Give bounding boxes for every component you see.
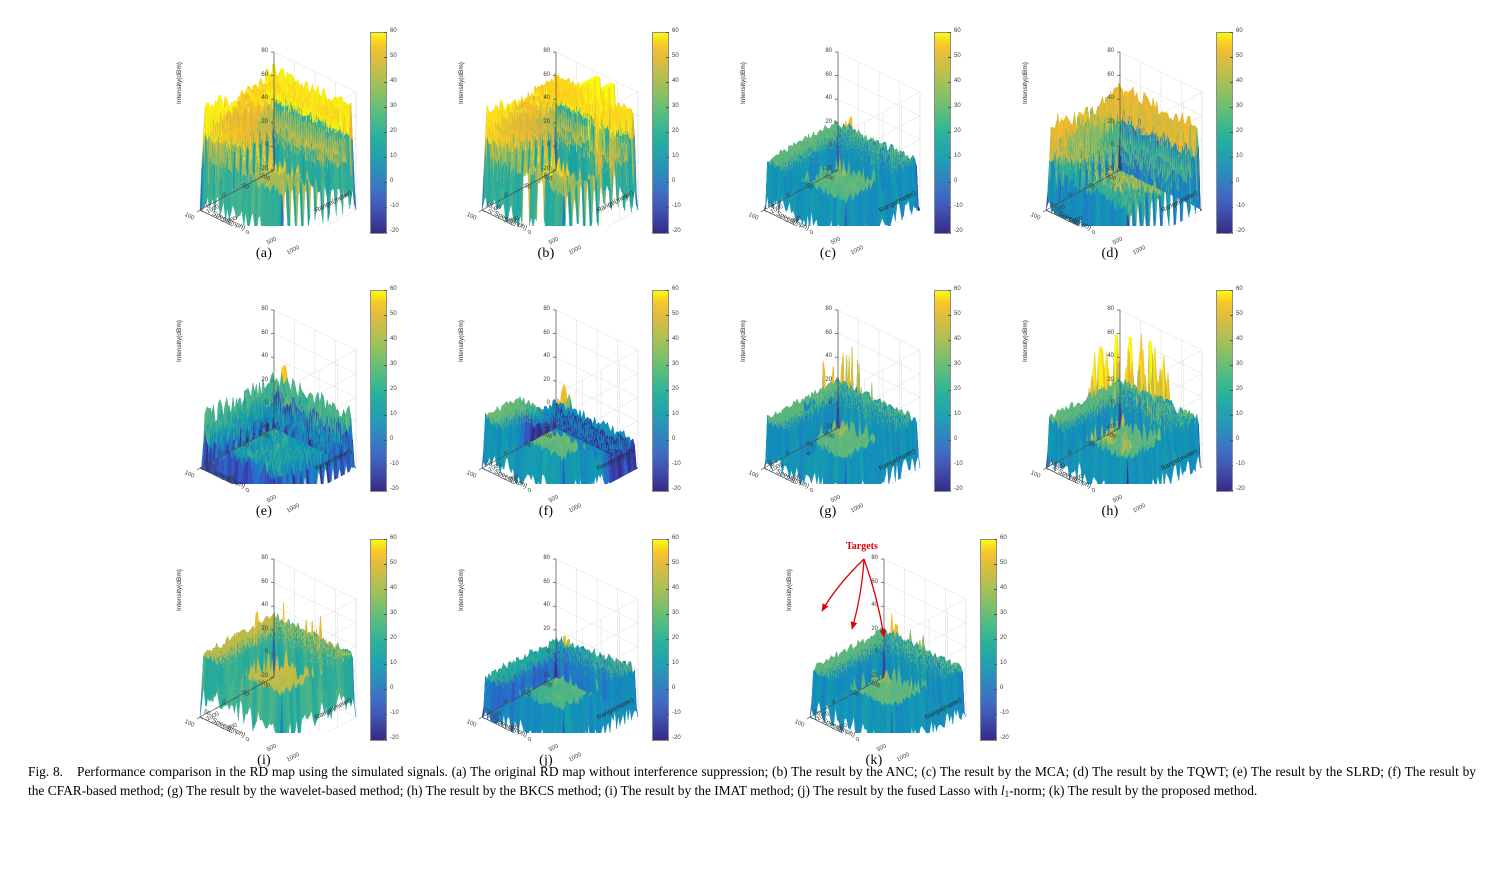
z-axis-label-g: Intensity(dBm) bbox=[740, 320, 747, 362]
z-tick-d-2: 40 bbox=[1092, 95, 1114, 101]
colorbar-notch-d-8 bbox=[1230, 232, 1233, 233]
y-tick-g-3: 500 bbox=[830, 494, 842, 504]
panel-h: 806040200-20-100-50050100-1000-500050010… bbox=[996, 278, 1276, 528]
surface-mesh bbox=[482, 385, 638, 484]
colorbar-tick-b-6: 0 bbox=[672, 178, 675, 184]
z-tick-h-3: 20 bbox=[1092, 377, 1114, 383]
z-tick-d-0: 80 bbox=[1092, 48, 1114, 54]
colorbar-notch-g-1 bbox=[948, 315, 951, 316]
plot-area-c: 806040200-20-100-50050100-1000-500050010… bbox=[714, 20, 942, 245]
colorbar-tick-j-0: 60 bbox=[672, 535, 679, 541]
y-tick-j-3: 500 bbox=[548, 743, 560, 753]
colorbar-tick-b-5: 10 bbox=[672, 153, 679, 159]
colorbar-notch-g-7 bbox=[948, 465, 951, 466]
colorbar-notch-h-0 bbox=[1230, 290, 1233, 291]
colorbar-tick-i-2: 40 bbox=[390, 585, 397, 591]
z-tick-f-3: 20 bbox=[528, 377, 550, 383]
z-tick-e-2: 40 bbox=[246, 353, 268, 359]
panel-j: 806040200-20-100-50050100-1000-500050010… bbox=[432, 527, 712, 777]
colorbar-tick-a-3: 30 bbox=[390, 103, 397, 109]
z-tick-d-4: 0 bbox=[1092, 142, 1114, 148]
colorbar-tick-a-4: 20 bbox=[390, 128, 397, 134]
figure-number: Fig. 8. bbox=[28, 764, 63, 779]
panel-c: 806040200-20-100-50050100-1000-500050010… bbox=[714, 20, 994, 270]
y-tick-d-2: 0 bbox=[1091, 229, 1097, 236]
colorbar-j: 6050403020100-10-20 bbox=[652, 535, 698, 747]
axes-3d-g: 806040200-20-100-50050100-1000-500050010… bbox=[742, 288, 938, 484]
z-tick-d-5: -20 bbox=[1092, 166, 1114, 172]
colorbar-tick-f-6: 0 bbox=[672, 436, 675, 442]
z-tick-e-5: -20 bbox=[246, 424, 268, 430]
axes-3d-i: 806040200-20-100-50050100-1000-500050010… bbox=[178, 537, 374, 733]
colorbar-notch-j-7 bbox=[666, 714, 669, 715]
colorbar-notch-c-7 bbox=[948, 207, 951, 208]
z-tick-e-3: 20 bbox=[246, 377, 268, 383]
colorbar-notch-d-3 bbox=[1230, 107, 1233, 108]
colorbar-notch-k-8 bbox=[994, 739, 997, 740]
colorbar-notch-e-4 bbox=[384, 390, 387, 391]
y-tick-i-2: 0 bbox=[245, 736, 251, 743]
colorbar-notch-f-3 bbox=[666, 365, 669, 366]
colorbar-tick-f-7: -10 bbox=[672, 461, 681, 467]
z-tick-a-2: 40 bbox=[246, 95, 268, 101]
colorbar-ticks-i: 6050403020100-10-20 bbox=[387, 535, 415, 743]
panel-letter-a: (a) bbox=[150, 246, 378, 262]
z-tick-i-5: -20 bbox=[246, 673, 268, 679]
colorbar-tick-g-0: 60 bbox=[954, 286, 961, 292]
colorbar-notch-i-5 bbox=[384, 664, 387, 665]
colorbar-notch-c-8 bbox=[948, 232, 951, 233]
plot-area-k: 806040200-20-100-50050100-1000-500050010… bbox=[760, 527, 988, 752]
colorbar-notch-g-3 bbox=[948, 365, 951, 366]
colorbar-notch-d-2 bbox=[1230, 82, 1233, 83]
colorbar-tick-k-8: -20 bbox=[1000, 735, 1009, 741]
colorbar-tick-c-2: 40 bbox=[954, 78, 961, 84]
colorbar-notch-h-3 bbox=[1230, 365, 1233, 366]
colorbar-notch-a-3 bbox=[384, 107, 387, 108]
z-tick-d-1: 60 bbox=[1092, 72, 1114, 78]
y-tick-c-2: 0 bbox=[809, 229, 815, 236]
colorbar-tick-g-1: 50 bbox=[954, 311, 961, 317]
z-tick-f-5: -20 bbox=[528, 424, 550, 430]
colorbar-tick-i-5: 10 bbox=[390, 660, 397, 666]
colorbar-notch-d-7 bbox=[1230, 207, 1233, 208]
z-tick-i-2: 40 bbox=[246, 602, 268, 608]
colorbar-notch-a-4 bbox=[384, 132, 387, 133]
colorbar-notch-e-8 bbox=[384, 490, 387, 491]
colorbar-tick-b-3: 30 bbox=[672, 103, 679, 109]
z-tick-h-4: 0 bbox=[1092, 400, 1114, 406]
colorbar-e: 6050403020100-10-20 bbox=[370, 286, 416, 498]
panel-letter-f: (f) bbox=[432, 504, 660, 520]
panel-grid: 806040200-20-100-50050100-1000-500050010… bbox=[0, 0, 1502, 745]
colorbar-notch-f-2 bbox=[666, 340, 669, 341]
colorbar-notch-i-3 bbox=[384, 614, 387, 615]
y-tick-j-2: 0 bbox=[527, 736, 533, 743]
colorbar-tick-j-7: -10 bbox=[672, 710, 681, 716]
panel-letter-b: (b) bbox=[432, 246, 660, 262]
panel-letter-c: (c) bbox=[714, 246, 942, 262]
colorbar-notch-a-1 bbox=[384, 57, 387, 58]
colorbar-d: 6050403020100-10-20 bbox=[1216, 28, 1262, 240]
colorbar-tick-c-0: 60 bbox=[954, 28, 961, 34]
colorbar-tick-k-1: 50 bbox=[1000, 560, 1007, 566]
z-tick-e-4: 0 bbox=[246, 400, 268, 406]
colorbar-g: 6050403020100-10-20 bbox=[934, 286, 980, 498]
colorbar-notch-f-5 bbox=[666, 415, 669, 416]
colorbar-tick-j-4: 20 bbox=[672, 635, 679, 641]
colorbar-gradient-e bbox=[370, 290, 387, 492]
colorbar-notch-e-5 bbox=[384, 415, 387, 416]
colorbar-tick-d-4: 20 bbox=[1236, 128, 1243, 134]
plot-area-a: 806040200-20-100-50050100-1000-500050010… bbox=[150, 20, 378, 245]
colorbar-tick-i-4: 20 bbox=[390, 635, 397, 641]
panel-g: 806040200-20-100-50050100-1000-500050010… bbox=[714, 278, 994, 528]
z-tick-c-4: 0 bbox=[810, 142, 832, 148]
axes-3d-f: 806040200-20-100-50050100-1000-500050010… bbox=[460, 288, 656, 484]
z-tick-g-1: 60 bbox=[810, 330, 832, 336]
z-tick-i-0: 80 bbox=[246, 555, 268, 561]
colorbar-tick-e-8: -20 bbox=[390, 486, 399, 492]
colorbar-notch-j-0 bbox=[666, 539, 669, 540]
colorbar-tick-e-6: 0 bbox=[390, 436, 393, 442]
surface-mesh bbox=[200, 365, 356, 484]
colorbar-notch-a-2 bbox=[384, 82, 387, 83]
colorbar-tick-j-3: 30 bbox=[672, 610, 679, 616]
axes-3d-e: 806040200-20-100-50050100-1000-500050010… bbox=[178, 288, 374, 484]
z-tick-j-3: 20 bbox=[528, 626, 550, 632]
colorbar-notch-k-2 bbox=[994, 589, 997, 590]
colorbar-notch-f-1 bbox=[666, 315, 669, 316]
colorbar-tick-e-0: 60 bbox=[390, 286, 397, 292]
colorbar-notch-h-8 bbox=[1230, 490, 1233, 491]
colorbar-notch-e-0 bbox=[384, 290, 387, 291]
z-axis-label-b: Intensity(dBm) bbox=[458, 62, 465, 104]
colorbar-notch-c-0 bbox=[948, 32, 951, 33]
colorbar-notch-g-8 bbox=[948, 490, 951, 491]
y-tick-f-2: 0 bbox=[527, 487, 533, 494]
colorbar-notch-c-4 bbox=[948, 132, 951, 133]
z-tick-a-3: 20 bbox=[246, 119, 268, 125]
colorbar-tick-a-2: 40 bbox=[390, 78, 397, 84]
colorbar-notch-g-2 bbox=[948, 340, 951, 341]
colorbar-h: 6050403020100-10-20 bbox=[1216, 286, 1262, 498]
colorbar-tick-e-2: 40 bbox=[390, 336, 397, 342]
colorbar-tick-a-6: 0 bbox=[390, 178, 393, 184]
z-axis-label-f: Intensity(dBm) bbox=[458, 320, 465, 362]
z-tick-i-3: 20 bbox=[246, 626, 268, 632]
colorbar-tick-d-6: 0 bbox=[1236, 178, 1239, 184]
axes-3d-j: 806040200-20-100-50050100-1000-500050010… bbox=[460, 537, 656, 733]
colorbar-gradient-c bbox=[934, 32, 951, 234]
panel-e: 806040200-20-100-50050100-1000-500050010… bbox=[150, 278, 430, 528]
plot-area-h: 806040200-20-100-50050100-1000-500050010… bbox=[996, 278, 1224, 503]
colorbar-notch-e-6 bbox=[384, 440, 387, 441]
colorbar-tick-j-2: 40 bbox=[672, 585, 679, 591]
z-tick-h-1: 60 bbox=[1092, 330, 1114, 336]
colorbar-notch-c-2 bbox=[948, 82, 951, 83]
colorbar-tick-j-5: 10 bbox=[672, 660, 679, 666]
colorbar-tick-g-2: 40 bbox=[954, 336, 961, 342]
colorbar-notch-f-0 bbox=[666, 290, 669, 291]
z-tick-g-3: 20 bbox=[810, 377, 832, 383]
colorbar-notch-b-6 bbox=[666, 182, 669, 183]
colorbar-notch-i-1 bbox=[384, 564, 387, 565]
z-tick-g-4: 0 bbox=[810, 400, 832, 406]
colorbar-notch-j-8 bbox=[666, 739, 669, 740]
z-tick-e-0: 80 bbox=[246, 306, 268, 312]
panel-letter-h: (h) bbox=[996, 504, 1224, 520]
colorbar-tick-j-8: -20 bbox=[672, 735, 681, 741]
colorbar-ticks-j: 6050403020100-10-20 bbox=[669, 535, 697, 743]
colorbar-tick-f-5: 10 bbox=[672, 411, 679, 417]
colorbar-tick-f-2: 40 bbox=[672, 336, 679, 342]
panel-f: 806040200-20-100-50050100-1000-500050010… bbox=[432, 278, 712, 528]
z-tick-a-5: -20 bbox=[246, 166, 268, 172]
plot-area-f: 806040200-20-100-50050100-1000-500050010… bbox=[432, 278, 660, 503]
colorbar-notch-d-4 bbox=[1230, 132, 1233, 133]
colorbar-ticks-b: 6050403020100-10-20 bbox=[669, 28, 697, 236]
colorbar-notch-c-3 bbox=[948, 107, 951, 108]
colorbar-notch-e-1 bbox=[384, 315, 387, 316]
colorbar-tick-h-7: -10 bbox=[1236, 461, 1245, 467]
z-tick-j-4: 0 bbox=[528, 649, 550, 655]
plot-area-g: 806040200-20-100-50050100-1000-500050010… bbox=[714, 278, 942, 503]
panel-letter-g: (g) bbox=[714, 504, 942, 520]
colorbar-tick-k-4: 20 bbox=[1000, 635, 1007, 641]
colorbar-notch-a-8 bbox=[384, 232, 387, 233]
colorbar-notch-g-4 bbox=[948, 390, 951, 391]
y-tick-e-3: 500 bbox=[266, 494, 278, 504]
colorbar-tick-c-6: 0 bbox=[954, 178, 957, 184]
colorbar-gradient-k bbox=[980, 539, 997, 741]
colorbar-tick-a-1: 50 bbox=[390, 53, 397, 59]
colorbar-tick-i-0: 60 bbox=[390, 535, 397, 541]
colorbar-notch-e-3 bbox=[384, 365, 387, 366]
plot-area-i: 806040200-20-100-50050100-1000-500050010… bbox=[150, 527, 378, 752]
z-axis-label-i: Intensity(dBm) bbox=[176, 569, 183, 611]
colorbar-ticks-a: 6050403020100-10-20 bbox=[387, 28, 415, 236]
colorbar-tick-c-8: -20 bbox=[954, 228, 963, 234]
figure-caption: Fig. 8.Performance comparison in the RD … bbox=[28, 762, 1476, 804]
colorbar-notch-g-5 bbox=[948, 415, 951, 416]
colorbar-notch-k-4 bbox=[994, 639, 997, 640]
z-tick-j-1: 60 bbox=[528, 579, 550, 585]
colorbar-tick-c-5: 10 bbox=[954, 153, 961, 159]
z-tick-c-3: 20 bbox=[810, 119, 832, 125]
colorbar-notch-h-1 bbox=[1230, 315, 1233, 316]
y-tick-b-2: 0 bbox=[527, 229, 533, 236]
colorbar-tick-k-2: 40 bbox=[1000, 585, 1007, 591]
colorbar-notch-d-5 bbox=[1230, 157, 1233, 158]
colorbar-b: 6050403020100-10-20 bbox=[652, 28, 698, 240]
colorbar-tick-b-0: 60 bbox=[672, 28, 679, 34]
colorbar-notch-j-2 bbox=[666, 589, 669, 590]
y-tick-a-3: 500 bbox=[266, 236, 278, 246]
colorbar-notch-f-6 bbox=[666, 440, 669, 441]
axes-3d-c: 806040200-20-100-50050100-1000-500050010… bbox=[742, 30, 938, 226]
colorbar-ticks-d: 6050403020100-10-20 bbox=[1233, 28, 1261, 236]
colorbar-tick-h-0: 60 bbox=[1236, 286, 1243, 292]
axes-3d-d: 806040200-20-100-50050100-1000-500050010… bbox=[1024, 30, 1220, 226]
colorbar-notch-i-7 bbox=[384, 714, 387, 715]
colorbar-tick-c-1: 50 bbox=[954, 53, 961, 59]
z-tick-i-1: 60 bbox=[246, 579, 268, 585]
colorbar-c: 6050403020100-10-20 bbox=[934, 28, 980, 240]
colorbar-notch-b-8 bbox=[666, 232, 669, 233]
colorbar-notch-e-7 bbox=[384, 465, 387, 466]
colorbar-tick-b-7: -10 bbox=[672, 203, 681, 209]
target-arrow-3 bbox=[864, 559, 884, 637]
colorbar-notch-k-0 bbox=[994, 539, 997, 540]
colorbar-gradient-g bbox=[934, 290, 951, 492]
colorbar-notch-b-7 bbox=[666, 207, 669, 208]
colorbar-tick-d-5: 10 bbox=[1236, 153, 1243, 159]
z-tick-h-5: -20 bbox=[1092, 424, 1114, 430]
y-tick-c-3: 500 bbox=[830, 236, 842, 246]
colorbar-notch-b-1 bbox=[666, 57, 669, 58]
targets-annotation-overlay bbox=[760, 527, 988, 752]
panel-letter-d: (d) bbox=[996, 246, 1224, 262]
colorbar-notch-a-5 bbox=[384, 157, 387, 158]
y-tick-b-3: 500 bbox=[548, 236, 560, 246]
colorbar-tick-k-6: 0 bbox=[1000, 685, 1003, 691]
colorbar-tick-h-5: 10 bbox=[1236, 411, 1243, 417]
colorbar-notch-g-0 bbox=[948, 290, 951, 291]
y-tick-a-2: 0 bbox=[245, 229, 251, 236]
z-axis-label-j: Intensity(dBm) bbox=[458, 569, 465, 611]
colorbar-tick-k-7: -10 bbox=[1000, 710, 1009, 716]
z-tick-j-2: 40 bbox=[528, 602, 550, 608]
panel-letter-e: (e) bbox=[150, 504, 378, 520]
colorbar-tick-b-8: -20 bbox=[672, 228, 681, 234]
colorbar-tick-h-4: 20 bbox=[1236, 386, 1243, 392]
colorbar-notch-b-5 bbox=[666, 157, 669, 158]
z-tick-a-4: 0 bbox=[246, 142, 268, 148]
colorbar-tick-e-7: -10 bbox=[390, 461, 399, 467]
axes-3d-h: 806040200-20-100-50050100-1000-500050010… bbox=[1024, 288, 1220, 484]
colorbar-gradient-i bbox=[370, 539, 387, 741]
colorbar-tick-i-7: -10 bbox=[390, 710, 399, 716]
y-tick-h-3: 500 bbox=[1112, 494, 1124, 504]
z-axis-label-a: Intensity(dBm) bbox=[176, 62, 183, 104]
z-tick-e-1: 60 bbox=[246, 330, 268, 336]
colorbar-notch-a-0 bbox=[384, 32, 387, 33]
colorbar-tick-c-7: -10 bbox=[954, 203, 963, 209]
colorbar-notch-j-3 bbox=[666, 614, 669, 615]
colorbar-a: 6050403020100-10-20 bbox=[370, 28, 416, 240]
colorbar-notch-k-6 bbox=[994, 689, 997, 690]
z-tick-i-4: 0 bbox=[246, 649, 268, 655]
colorbar-notch-j-4 bbox=[666, 639, 669, 640]
colorbar-notch-c-6 bbox=[948, 182, 951, 183]
colorbar-tick-i-1: 50 bbox=[390, 560, 397, 566]
y-tick-i-3: 500 bbox=[266, 743, 278, 753]
colorbar-notch-j-6 bbox=[666, 689, 669, 690]
z-tick-h-0: 80 bbox=[1092, 306, 1114, 312]
axes-3d-a: 806040200-20-100-50050100-1000-500050010… bbox=[178, 30, 374, 226]
surface-mesh bbox=[482, 636, 638, 733]
colorbar-notch-k-7 bbox=[994, 714, 997, 715]
colorbar-notch-i-0 bbox=[384, 539, 387, 540]
colorbar-notch-i-4 bbox=[384, 639, 387, 640]
colorbar-notch-d-1 bbox=[1230, 57, 1233, 58]
colorbar-notch-b-3 bbox=[666, 107, 669, 108]
z-tick-b-1: 60 bbox=[528, 72, 550, 78]
colorbar-tick-g-7: -10 bbox=[954, 461, 963, 467]
z-axis-label-d: Intensity(dBm) bbox=[1022, 62, 1029, 104]
colorbar-ticks-h: 6050403020100-10-20 bbox=[1233, 286, 1261, 494]
colorbar-tick-k-5: 10 bbox=[1000, 660, 1007, 666]
colorbar-notch-h-4 bbox=[1230, 390, 1233, 391]
axes-3d-b: 806040200-20-100-50050100-1000-500050010… bbox=[460, 30, 656, 226]
z-tick-g-2: 40 bbox=[810, 353, 832, 359]
colorbar-notch-f-7 bbox=[666, 465, 669, 466]
colorbar-tick-k-3: 30 bbox=[1000, 610, 1007, 616]
colorbar-notch-i-8 bbox=[384, 739, 387, 740]
colorbar-k: 6050403020100-10-20 bbox=[980, 535, 1026, 747]
panel-i: 806040200-20-100-50050100-1000-500050010… bbox=[150, 527, 430, 777]
z-tick-j-0: 80 bbox=[528, 555, 550, 561]
colorbar-notch-g-6 bbox=[948, 440, 951, 441]
colorbar-tick-g-5: 10 bbox=[954, 411, 961, 417]
plot-area-e: 806040200-20-100-50050100-1000-500050010… bbox=[150, 278, 378, 503]
colorbar-gradient-f bbox=[652, 290, 669, 492]
colorbar-notch-k-3 bbox=[994, 614, 997, 615]
colorbar-tick-h-6: 0 bbox=[1236, 436, 1239, 442]
z-tick-a-1: 60 bbox=[246, 72, 268, 78]
colorbar-notch-a-7 bbox=[384, 207, 387, 208]
colorbar-gradient-j bbox=[652, 539, 669, 741]
colorbar-tick-j-6: 0 bbox=[672, 685, 675, 691]
colorbar-notch-b-0 bbox=[666, 32, 669, 33]
z-tick-b-3: 20 bbox=[528, 119, 550, 125]
colorbar-tick-a-0: 60 bbox=[390, 28, 397, 34]
colorbar-tick-d-3: 30 bbox=[1236, 103, 1243, 109]
targets-label: Targets bbox=[846, 541, 878, 552]
z-tick-f-1: 60 bbox=[528, 330, 550, 336]
colorbar-notch-d-6 bbox=[1230, 182, 1233, 183]
colorbar-tick-i-3: 30 bbox=[390, 610, 397, 616]
plot-area-d: 806040200-20-100-50050100-1000-500050010… bbox=[996, 20, 1224, 245]
plot-area-j: 806040200-20-100-50050100-1000-500050010… bbox=[432, 527, 660, 752]
colorbar-tick-d-7: -10 bbox=[1236, 203, 1245, 209]
surface-mesh bbox=[764, 116, 920, 226]
colorbar-notch-b-2 bbox=[666, 82, 669, 83]
colorbar-tick-b-1: 50 bbox=[672, 53, 679, 59]
surface-mesh bbox=[200, 603, 356, 733]
z-tick-c-1: 60 bbox=[810, 72, 832, 78]
z-axis-label-h: Intensity(dBm) bbox=[1022, 320, 1029, 362]
colorbar-tick-d-0: 60 bbox=[1236, 28, 1243, 34]
z-tick-g-5: -20 bbox=[810, 424, 832, 430]
z-axis-label-e: Intensity(dBm) bbox=[176, 320, 183, 362]
colorbar-notch-a-6 bbox=[384, 182, 387, 183]
colorbar-notch-h-6 bbox=[1230, 440, 1233, 441]
colorbar-tick-f-8: -20 bbox=[672, 486, 681, 492]
colorbar-notch-k-5 bbox=[994, 664, 997, 665]
z-tick-a-0: 80 bbox=[246, 48, 268, 54]
colorbar-tick-i-8: -20 bbox=[390, 735, 399, 741]
colorbar-gradient-d bbox=[1216, 32, 1233, 234]
colorbar-tick-f-3: 30 bbox=[672, 361, 679, 367]
y-tick-f-3: 500 bbox=[548, 494, 560, 504]
colorbar-tick-f-4: 20 bbox=[672, 386, 679, 392]
colorbar-notch-k-1 bbox=[994, 564, 997, 565]
z-tick-j-5: -20 bbox=[528, 673, 550, 679]
z-tick-g-0: 80 bbox=[810, 306, 832, 312]
colorbar-notch-h-5 bbox=[1230, 415, 1233, 416]
